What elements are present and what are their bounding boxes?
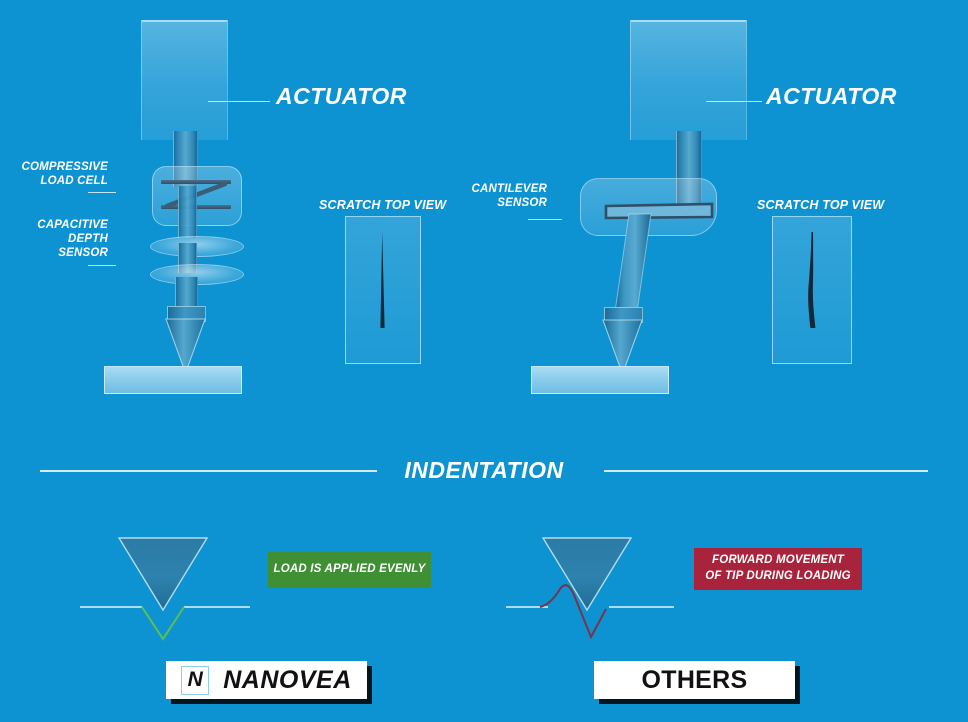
indentation-divider-left <box>40 470 377 472</box>
label-compressive-load-cell: COMPRESSIVE LOAD CELL <box>0 160 108 188</box>
leader-cantilever-sensor <box>528 219 562 220</box>
nanovea-brand-box: N NANOVEA <box>166 661 367 699</box>
right-indenter-tip <box>602 319 643 371</box>
left-actuator-label: ACTUATOR <box>276 82 436 110</box>
left-actuator-leader <box>208 101 270 102</box>
capacitive-disc-upper <box>150 236 244 257</box>
leader-compressive-load-cell <box>88 192 116 193</box>
left-indentation-graphic <box>72 525 262 645</box>
left-shaft-lower <box>175 277 198 309</box>
label-capacitive-depth-sensor: CAPACITIVE DEPTH SENSOR <box>0 218 108 260</box>
left-indentation-badge: LOAD IS APPLIED EVENLY <box>268 552 431 588</box>
left-substrate <box>104 366 242 394</box>
right-indentation-graphic <box>496 525 686 645</box>
diagram-canvas: ACTUATOR COMPRESSIVE LOAD CELL CAPAC <box>0 0 968 722</box>
right-shaft-lower <box>604 214 654 314</box>
right-indentation-badge: FORWARD MOVEMENT OF TIP DURING LOADING <box>694 548 862 590</box>
nanovea-brand-name: NANOVEA <box>223 666 352 695</box>
right-actuator-block <box>630 20 747 140</box>
indentation-section-title: INDENTATION <box>384 456 584 484</box>
leader-capacitive-depth-sensor <box>88 265 116 266</box>
others-brand-box: OTHERS <box>594 661 795 699</box>
left-shaft-middle <box>178 186 197 238</box>
left-scratch-mark <box>345 216 419 362</box>
indentation-divider-right <box>604 470 928 472</box>
others-brand-name: OTHERS <box>642 666 748 695</box>
right-actuator-leader <box>706 101 762 102</box>
left-actuator-block <box>141 20 228 140</box>
nanovea-initial-icon: N <box>181 666 209 695</box>
right-scratch-panel-title: SCRATCH TOP VIEW <box>757 198 927 213</box>
left-indenter-tip <box>165 318 206 370</box>
right-substrate <box>531 366 669 394</box>
label-cantilever-sensor: CANTILEVER SENSOR <box>420 182 547 210</box>
right-scratch-mark <box>772 216 850 362</box>
right-actuator-label: ACTUATOR <box>766 82 936 110</box>
